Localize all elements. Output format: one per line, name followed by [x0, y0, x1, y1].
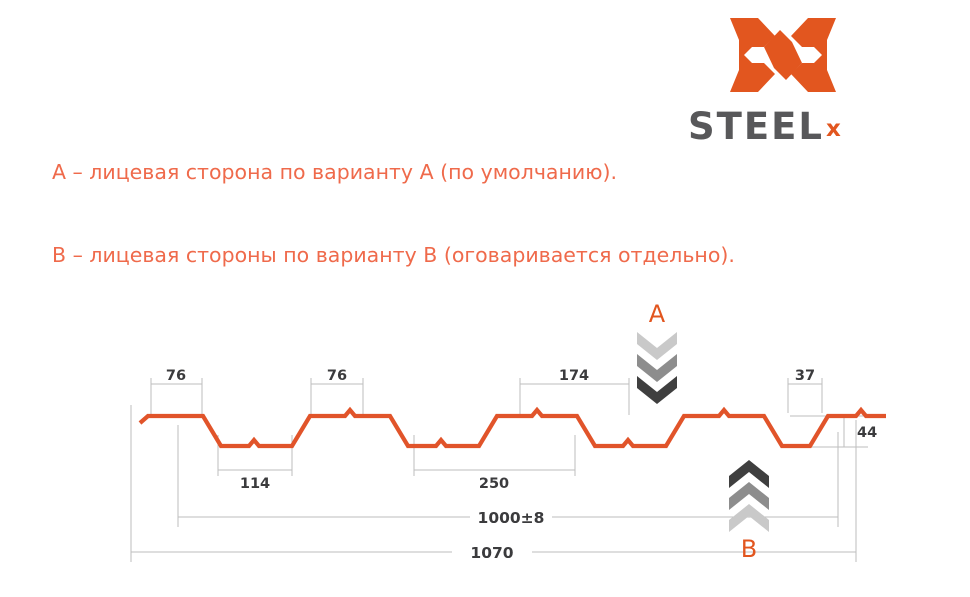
dim-label-250: 250 [479, 476, 509, 492]
dimension-labels: 76 76 174 37 114 250 44 1000±8 1070 [166, 368, 877, 562]
caption-variant-a: А – лицевая сторона по варианту А (по ум… [52, 160, 617, 184]
dim-label-114: 114 [240, 476, 270, 492]
steelx-logo-mark-icon [728, 16, 838, 94]
dim-label-37: 37 [795, 368, 815, 384]
marker-label-a: A [649, 300, 666, 328]
chevron-down-icon [637, 332, 677, 404]
dim-label-174: 174 [559, 368, 589, 384]
marker-side-b: B [729, 460, 769, 563]
dim-label-76-right: 76 [327, 368, 347, 384]
dim-label-1070: 1070 [470, 544, 513, 562]
brand-logo: STEEL x [688, 16, 918, 146]
marker-label-b: B [741, 535, 757, 563]
profile-outline [140, 410, 886, 446]
dim-label-76-left: 76 [166, 368, 186, 384]
chevron-up-icon [729, 460, 769, 532]
brand-wordmark-main: STEEL [688, 108, 824, 145]
brand-wordmark: STEEL x [688, 108, 903, 148]
page-canvas: STEEL x А – лицевая сторона по варианту … [0, 0, 970, 597]
brand-wordmark-super: x [826, 118, 841, 141]
dim-label-1000: 1000±8 [478, 509, 545, 527]
marker-side-a: A [637, 300, 677, 404]
caption-variant-b: В – лицевая стороны по варианту В (огова… [52, 243, 735, 267]
dim-label-44: 44 [857, 425, 877, 441]
profile-cross-section-drawing: 76 76 174 37 114 250 44 1000±8 1070 A [0, 280, 970, 590]
